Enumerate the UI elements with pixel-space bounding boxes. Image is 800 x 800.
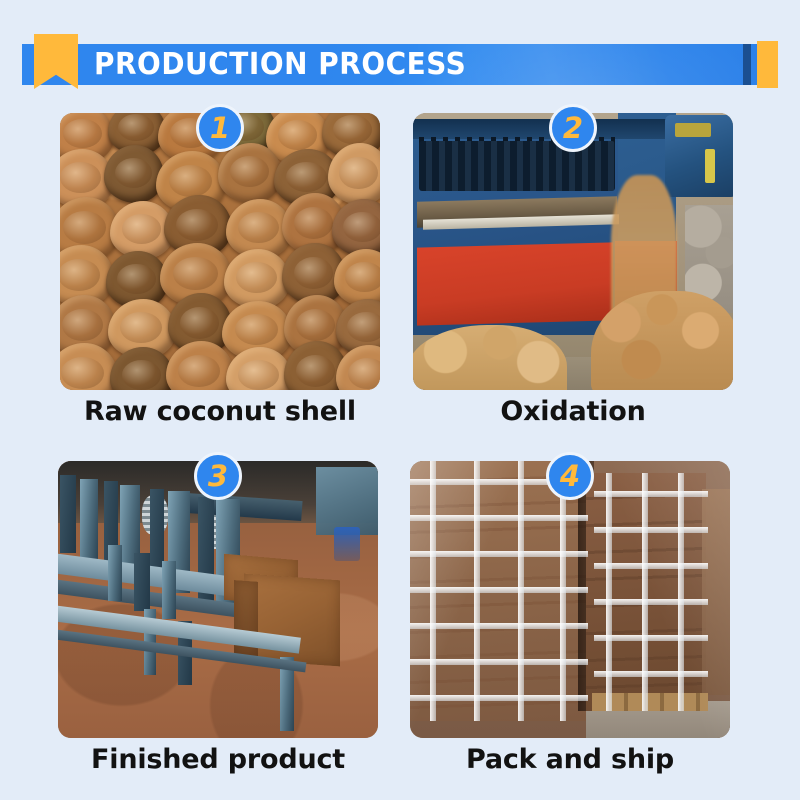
page-title: PRODUCTION PROCESS (94, 44, 466, 85)
step-4-badge: 4 (546, 452, 594, 500)
step-3-photo (58, 461, 378, 738)
process-step-1: 1 Raw coconut shell (60, 104, 380, 452)
production-process-grid: 1 Raw coconut shell (0, 104, 800, 800)
finished-product-press-image (58, 461, 378, 738)
process-row-2: 3 Finished product (0, 452, 800, 800)
step-4-caption: Pack and ship (380, 744, 760, 775)
step-2-badge: 2 (549, 104, 597, 152)
step-1-caption: Raw coconut shell (30, 396, 410, 427)
step-2-caption: Oxidation (383, 396, 763, 427)
header-banner: PRODUCTION PROCESS (22, 44, 778, 85)
banner-sheen-decor-2 (418, 44, 748, 85)
step-4-photo (410, 461, 730, 738)
process-row-1: 1 Raw coconut shell (0, 104, 800, 452)
step-1-photo (60, 113, 380, 390)
step-3-badge: 3 (194, 452, 242, 500)
bookmark-icon (34, 34, 78, 89)
process-step-4: 4 Pack and ship (410, 452, 730, 800)
process-step-2: 2 Oxidation (413, 104, 733, 452)
banner-dark-strip (743, 44, 751, 85)
bookmark-icon-shape (34, 34, 78, 89)
step-3-caption: Finished product (28, 744, 408, 775)
process-step-3: 3 Finished product (58, 452, 378, 800)
banner-endcap-icon (757, 41, 778, 88)
raw-coconut-shell-image (60, 113, 380, 390)
pack-and-ship-pallets-image (410, 461, 730, 738)
step-1-badge: 1 (196, 104, 244, 152)
step-2-photo (413, 113, 733, 390)
oxidation-machine-image (413, 113, 733, 390)
